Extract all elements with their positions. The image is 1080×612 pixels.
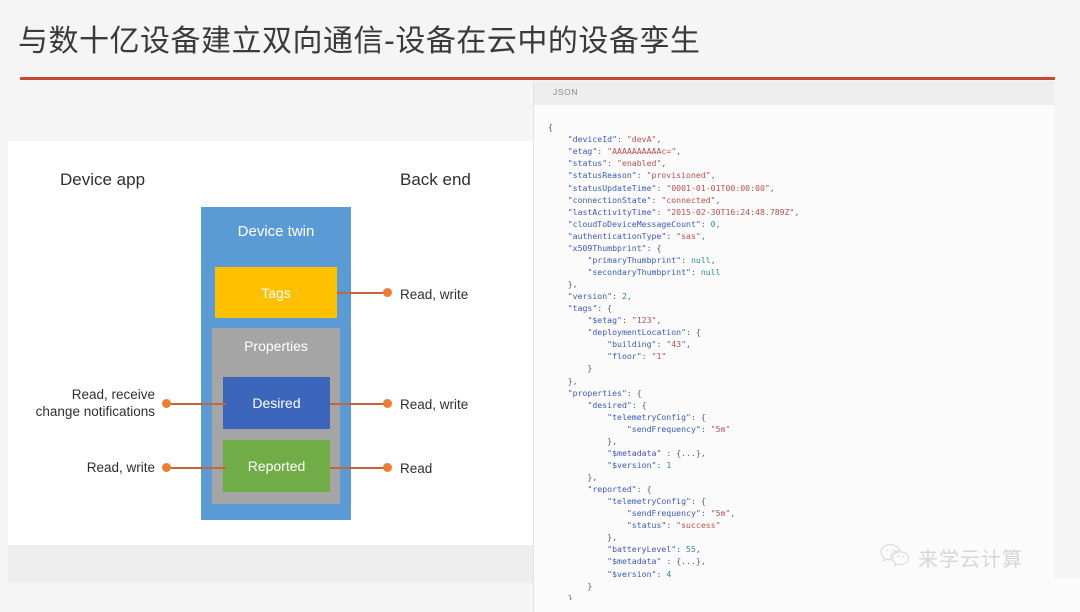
- title-divider: [20, 77, 1055, 80]
- connector-label-desired-left: Read, receive change notifications: [0, 386, 155, 420]
- json-code-block[interactable]: { "deviceId": "devA", "etag": "AAAAAAAAA…: [548, 121, 1048, 600]
- connector-dot-reported-right: [383, 463, 392, 472]
- connector-dot-reported-left: [162, 463, 171, 472]
- connector-dot-desired-right: [383, 399, 392, 408]
- panel-bottom-filler: [955, 578, 1080, 612]
- connector-line-desired-left: [168, 403, 226, 405]
- connector-line-desired-right: [330, 403, 385, 405]
- connector-label-desired-left-line2: change notifications: [0, 403, 155, 420]
- device-twin-label: Device twin: [201, 223, 351, 240]
- connector-dot-desired-left: [162, 399, 171, 408]
- connector-line-reported-left: [168, 467, 226, 469]
- diagram-card-shadow: [8, 545, 533, 583]
- reported-box: Reported: [223, 440, 330, 492]
- json-panel-header-label: JSON: [553, 87, 578, 97]
- page-title: 与数十亿设备建立双向通信-设备在云中的设备孪生: [18, 22, 700, 62]
- watermark-text: 来学云计算: [918, 543, 1023, 572]
- tags-box: Tags: [215, 267, 337, 318]
- connector-line-reported-right: [330, 467, 385, 469]
- connector-line-tags-right: [337, 292, 385, 294]
- diagram-heading-device-app: Device app: [60, 170, 145, 190]
- json-panel-header: [534, 81, 1054, 105]
- watermark: 来学云计算: [880, 543, 1023, 572]
- diagram-heading-back-end: Back end: [400, 170, 471, 190]
- connector-label-reported-left: Read, write: [0, 459, 155, 476]
- desired-box: Desired: [223, 377, 330, 429]
- wechat-icon: [880, 543, 910, 572]
- connector-label-desired-right: Read, write: [400, 396, 468, 413]
- connector-dot-tags-right: [383, 288, 392, 297]
- properties-label: Properties: [212, 338, 340, 354]
- connector-label-reported-right: Read: [400, 460, 432, 477]
- connector-label-desired-left-line1: Read, receive: [0, 386, 155, 403]
- json-panel: JSON { "deviceId": "devA", "etag": "AAAA…: [533, 81, 1054, 612]
- connector-label-tags-right: Read, write: [400, 286, 468, 303]
